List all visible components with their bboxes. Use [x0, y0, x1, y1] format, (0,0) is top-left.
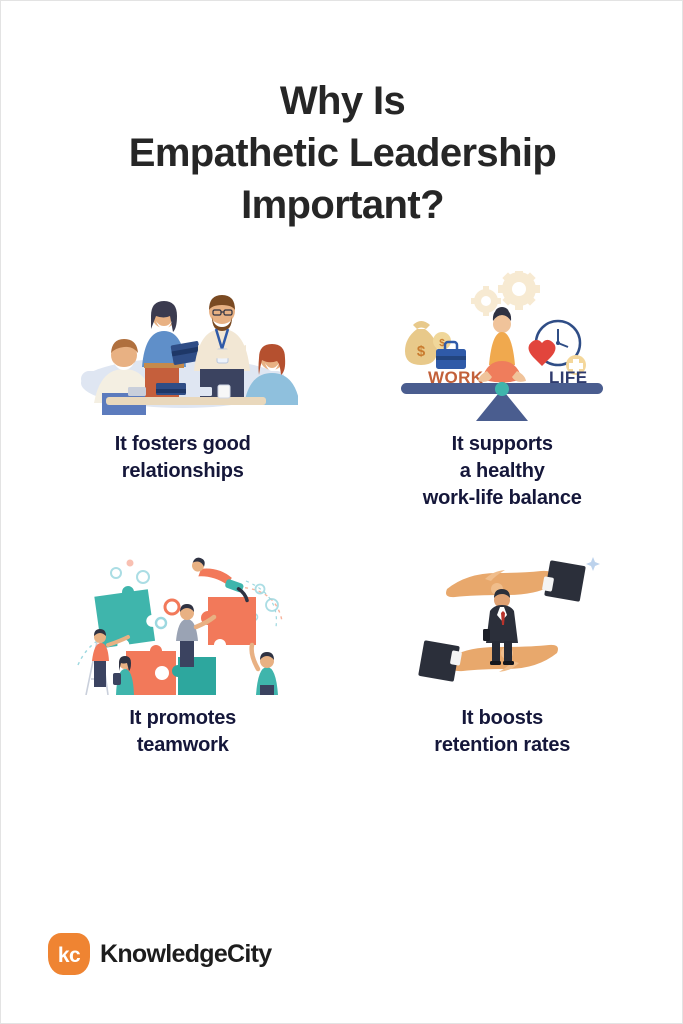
puzzle-teamwork-illustration — [68, 545, 298, 695]
caption-line: It promotes — [129, 705, 236, 732]
caption-line: It supports — [423, 431, 582, 458]
svg-text:$: $ — [417, 343, 426, 360]
benefit-card-work-life-balance: $ $ WORK — [343, 271, 663, 545]
infographic-page: Why Is Empathetic Leadership Important? — [0, 0, 683, 1024]
benefit-caption-relationships: It fosters good relationships — [115, 431, 251, 485]
work-life-balance-scale-illustration: $ $ WORK — [387, 271, 617, 421]
page-title-line-2: Empathetic Leadership — [1, 127, 683, 179]
benefit-card-relationships: It fosters good relationships — [23, 271, 343, 545]
caption-line: retention rates — [434, 732, 570, 759]
knowledgecity-logo-mark: kc — [48, 933, 90, 975]
knowledgecity-logo[interactable]: kc KnowledgeCity — [48, 933, 271, 975]
benefit-caption-retention: It boosts retention rates — [434, 705, 570, 759]
page-title-line-3: Important? — [1, 179, 683, 231]
page-title: Why Is Empathetic Leadership Important? — [1, 75, 683, 231]
protecting-hands-employee-illustration — [387, 545, 617, 695]
benefit-caption-work-life-balance: It supports a healthy work-life balance — [423, 431, 582, 512]
caption-line: work-life balance — [423, 485, 582, 512]
caption-line: a healthy — [423, 458, 582, 485]
benefit-card-teamwork: It promotes teamwork — [23, 545, 343, 819]
benefit-caption-teamwork: It promotes teamwork — [129, 705, 236, 759]
page-title-line-1: Why Is — [1, 75, 683, 127]
logo-wordmark: KnowledgeCity — [100, 940, 271, 969]
team-meeting-illustration — [68, 271, 298, 421]
caption-line: teamwork — [129, 732, 236, 759]
benefit-card-retention: It boosts retention rates — [343, 545, 663, 819]
benefits-grid: It fosters good relationships — [23, 271, 662, 819]
caption-line: relationships — [115, 458, 251, 485]
logo-mark-label: kc — [58, 945, 80, 966]
caption-line: It fosters good — [115, 431, 251, 458]
caption-line: It boosts — [434, 705, 570, 732]
